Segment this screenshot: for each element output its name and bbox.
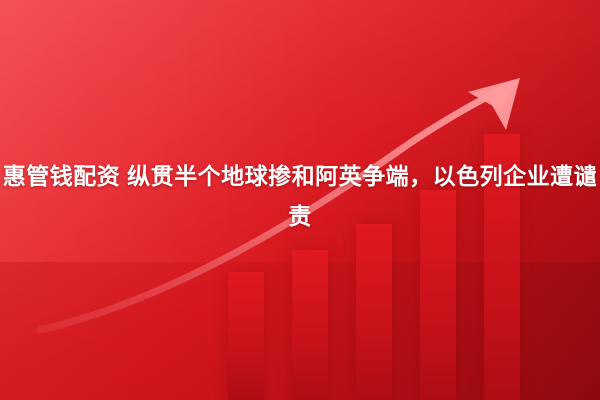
banner-image: 惠管钱配资 纵贯半个地球掺和阿英争端，以色列企业遭谴责: [0, 0, 600, 400]
headline-text: 惠管钱配资 纵贯半个地球掺和阿英争端，以色列企业遭谴责: [0, 156, 600, 236]
chart-bar: [292, 250, 328, 400]
chart-bar: [356, 224, 392, 400]
chart-bar: [228, 272, 264, 400]
